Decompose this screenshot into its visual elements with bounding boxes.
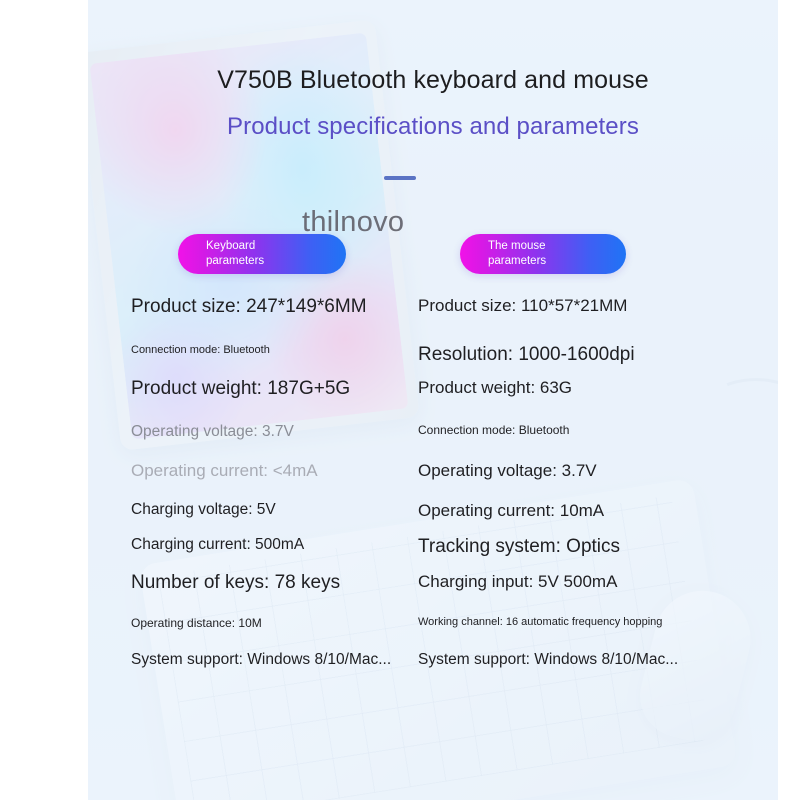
- spec-row: Operating current: 10mA: [418, 501, 604, 521]
- spec-row: Connection mode: Bluetooth: [131, 344, 270, 356]
- spec-row: Product size: 110*57*21MM: [418, 296, 627, 316]
- page-title: V750B Bluetooth keyboard and mouse: [88, 66, 778, 95]
- badge-keyboard-parameters: Keyboard parameters: [178, 234, 346, 274]
- product-spec-page: V750B Bluetooth keyboard and mouse Produ…: [0, 0, 800, 800]
- spec-row: Product size: 247*149*6MM: [131, 296, 367, 318]
- badge-label-line2: parameters: [488, 254, 626, 269]
- spec-row: Resolution: 1000-1600dpi: [418, 344, 635, 366]
- spec-row: Product weight: 187G+5G: [131, 378, 350, 400]
- spec-row: Charging voltage: 5V: [131, 501, 276, 519]
- spec-row: Connection mode: Bluetooth: [418, 423, 569, 437]
- badge-label-line2: parameters: [206, 254, 346, 269]
- spec-row: Charging input: 5V 500mA: [418, 572, 617, 592]
- title-divider: [384, 176, 416, 180]
- spec-row: Operating distance: 10M: [131, 616, 262, 630]
- spec-row: System support: Windows 8/10/Mac...: [418, 651, 678, 669]
- content-layer: V750B Bluetooth keyboard and mouse Produ…: [88, 0, 778, 800]
- spec-row: Working channel: 16 automatic frequency …: [418, 616, 662, 628]
- content-panel: V750B Bluetooth keyboard and mouse Produ…: [88, 0, 778, 800]
- badge-mouse-parameters: The mouse parameters: [460, 234, 626, 274]
- spec-row: Charging current: 500mA: [131, 536, 304, 554]
- spec-row: Number of keys: 78 keys: [131, 572, 340, 594]
- spec-row: Operating voltage: 3.7V: [131, 423, 294, 441]
- spec-row: Tracking system: Optics: [418, 536, 620, 558]
- spec-row: Operating voltage: 3.7V: [418, 461, 597, 481]
- badge-label-line1: The mouse: [488, 240, 546, 252]
- spec-row: System support: Windows 8/10/Mac...: [131, 651, 391, 669]
- spec-row: Operating current: <4mA: [131, 461, 318, 481]
- badge-label-line1: Keyboard: [206, 240, 255, 252]
- spec-row: Product weight: 63G: [418, 378, 572, 398]
- page-subtitle: Product specifications and parameters: [88, 113, 778, 141]
